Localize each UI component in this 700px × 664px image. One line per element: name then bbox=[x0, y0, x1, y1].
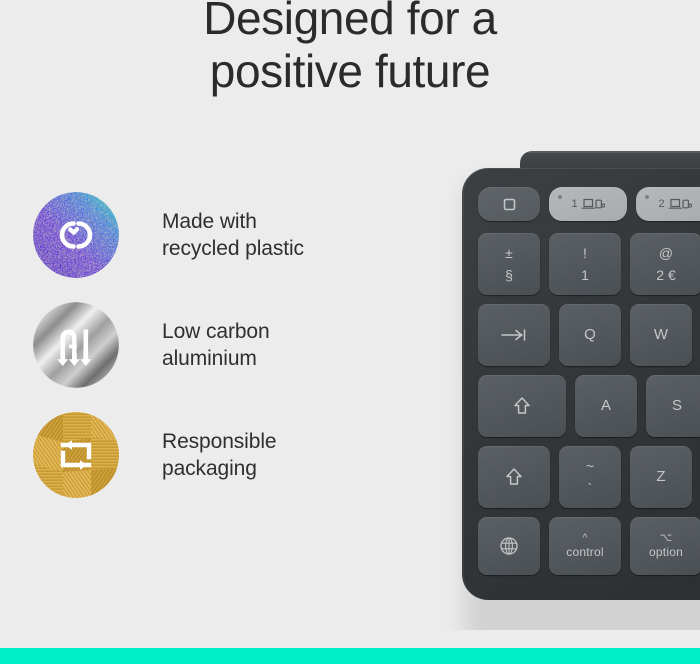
led-indicator bbox=[558, 195, 562, 199]
caps-lock-arrow-icon bbox=[512, 395, 532, 417]
list-item: Responsible packaging bbox=[30, 410, 430, 520]
key-section-top: ± bbox=[505, 245, 513, 261]
key-1-bottom: 1 bbox=[581, 267, 589, 283]
key-shift[interactable] bbox=[478, 446, 550, 508]
key-control-glyph: ^ bbox=[582, 533, 587, 544]
key-2-bottom: 2 € bbox=[656, 267, 675, 283]
responsible-packaging-badge-icon bbox=[33, 412, 119, 498]
key-easyswitch-1-label: 1 bbox=[571, 198, 577, 211]
key-control[interactable]: ^ control bbox=[549, 517, 621, 575]
key-1-top: ! bbox=[583, 245, 587, 261]
key-globe[interactable] bbox=[478, 517, 540, 575]
square-icon bbox=[502, 197, 517, 212]
key-q[interactable]: Q bbox=[559, 304, 621, 366]
list-item: Made with recycled plastic bbox=[30, 190, 430, 300]
list-item-label: Made with recycled plastic bbox=[162, 208, 304, 262]
key-caps-lock[interactable] bbox=[478, 375, 566, 437]
key-easyswitch-2[interactable]: 2 bbox=[636, 187, 700, 221]
key-option-glyph: ⌥ bbox=[660, 533, 673, 544]
key-easyswitch-2-label: 2 bbox=[658, 198, 664, 211]
key-2-top: @ bbox=[659, 245, 673, 261]
led-indicator bbox=[645, 195, 649, 199]
sustainability-feature-list: Made with recycled plastic bbox=[30, 190, 430, 520]
key-backtick[interactable]: ~ ` bbox=[559, 446, 621, 508]
low-carbon-aluminium-badge-icon bbox=[33, 302, 119, 388]
list-item: Low carbon aluminium bbox=[30, 300, 430, 410]
list-item-label: Low carbon aluminium bbox=[162, 318, 270, 372]
key-control-label: control bbox=[566, 546, 603, 560]
key-easyswitch-1[interactable]: 1 bbox=[549, 187, 627, 221]
page-title: Designed for a positive future bbox=[0, 0, 700, 98]
marketing-panel: Designed for a positive future bbox=[0, 0, 700, 664]
key-tab[interactable] bbox=[478, 304, 550, 366]
key-option-label: option bbox=[649, 546, 683, 560]
bottom-accent-bar bbox=[0, 648, 700, 664]
key-option[interactable]: ⌥ option bbox=[630, 517, 700, 575]
key-a[interactable]: A bbox=[575, 375, 637, 437]
key-w[interactable]: W bbox=[630, 304, 692, 366]
key-1[interactable]: ! 1 bbox=[549, 233, 621, 295]
tab-arrow-icon bbox=[499, 328, 529, 342]
device-switch-icon bbox=[581, 197, 605, 211]
key-section[interactable]: ± § bbox=[478, 233, 540, 295]
key-2[interactable]: @ 2 € bbox=[630, 233, 700, 295]
device-switch-icon bbox=[668, 197, 692, 211]
keyboard-product-image: 1 2 bbox=[430, 130, 700, 630]
key-escape[interactable] bbox=[478, 187, 540, 221]
key-s[interactable]: S bbox=[646, 375, 700, 437]
globe-icon bbox=[499, 536, 519, 556]
key-backtick-top: ~ bbox=[586, 458, 594, 474]
key-section-bottom: § bbox=[505, 267, 513, 283]
list-item-label: Responsible packaging bbox=[162, 428, 276, 482]
keyboard-body: 1 2 bbox=[462, 168, 700, 600]
recycled-plastic-badge-icon bbox=[33, 192, 119, 278]
shift-arrow-icon bbox=[504, 466, 524, 488]
key-backtick-bottom: ` bbox=[588, 480, 593, 496]
key-z[interactable]: Z bbox=[630, 446, 692, 508]
